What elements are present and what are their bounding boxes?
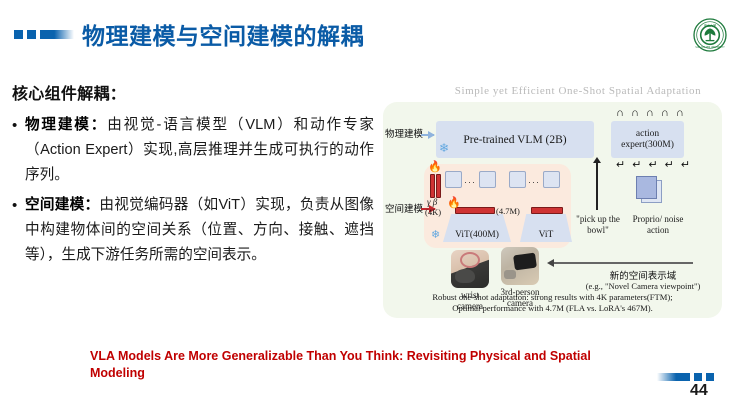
figure-label-physical-modeling: 物理建模 bbox=[385, 126, 423, 140]
glyph-top-5: ∩ bbox=[676, 108, 684, 119]
flame-icon-2: 🔥 bbox=[447, 198, 461, 209]
param-4k-label: (4K) bbox=[425, 207, 441, 217]
page-title: 物理建模与空间建模的解耦 bbox=[82, 17, 364, 51]
paper-title: VLA Models Are More Generalizable Than Y… bbox=[90, 348, 620, 382]
token-square-1 bbox=[445, 171, 462, 188]
vit-400m-box: ViT(400M) bbox=[443, 214, 511, 242]
token-ellipsis-2: ··· bbox=[528, 178, 540, 187]
header-square-1 bbox=[14, 30, 23, 39]
figure-bottom-caption-line1: Robust one-shot adaptation: strong resul… bbox=[393, 292, 712, 303]
wrist-camera-image bbox=[451, 250, 489, 288]
bullet-lead-label: 物理建模： bbox=[25, 117, 107, 133]
third-person-camera-image bbox=[501, 247, 539, 285]
vit-400m-label: ViT(400M) bbox=[455, 230, 499, 242]
figure-title: Simple yet Efficient One-Shot Spatial Ad… bbox=[433, 85, 723, 97]
action-expert-top-glyphs: ∩ ∩ ∩ ∩ ∩ bbox=[616, 108, 684, 119]
bullet-marker: • bbox=[12, 113, 25, 138]
pretrained-vlm-box: Pre-trained VLM (2B) bbox=[436, 121, 594, 158]
pretrained-vlm-label: Pre-trained VLM (2B) bbox=[436, 121, 594, 158]
university-seal-logo: 中山大学 SUN YAT-SEN UNIVERSITY bbox=[692, 17, 728, 53]
list-item: • 物理建模：由视觉-语言模型（VLM）和动作专家（Action Expert）… bbox=[12, 113, 374, 188]
param-47m-label: (4.7M) bbox=[496, 206, 520, 216]
svg-text:SUN YAT-SEN UNIVERSITY: SUN YAT-SEN UNIVERSITY bbox=[695, 46, 725, 49]
footer-gradient-bar bbox=[657, 373, 690, 381]
prompt-caption: "pick up the bowl" bbox=[569, 214, 627, 236]
arrow-to-vlm bbox=[421, 134, 434, 136]
header-square-2 bbox=[27, 30, 36, 39]
snowflake-icon: ❄ bbox=[439, 142, 449, 154]
content-heading: 核心组件解耦： bbox=[12, 80, 374, 104]
vit-box: ViT bbox=[520, 214, 572, 242]
snowflake-icon-2: ❄ bbox=[431, 230, 440, 241]
new-domain-feedback-arrow bbox=[553, 262, 693, 264]
slide-header: 物理建模与空间建模的解耦 中山大学 SUN YAT-SEN UNIVERSITY bbox=[0, 0, 740, 68]
token-ellipsis-1: ··· bbox=[464, 178, 476, 187]
glyph-bottom-5: ↵ bbox=[681, 160, 690, 171]
figure-label-spatial-modeling: 空间建模 bbox=[385, 201, 423, 215]
new-domain-label-en: (e.g., "Novel Camera viewpoint") bbox=[563, 281, 723, 291]
action-expert-box: action expert(300M) bbox=[611, 121, 684, 158]
glyph-top-3: ∩ bbox=[646, 108, 654, 119]
footer-square-1 bbox=[694, 373, 702, 381]
footer-decoration-marks bbox=[657, 373, 714, 381]
figure-canvas: 物理建模 Pre-trained VLM (2B) ❄ ∩ ∩ ∩ ∩ ∩ ac… bbox=[383, 102, 722, 318]
footer-square-2 bbox=[706, 373, 714, 381]
glyph-top-1: ∩ bbox=[616, 108, 624, 119]
action-expert-bottom-glyphs: ↵ ↵ ↵ ↵ ↵ bbox=[616, 160, 690, 171]
prompt-up-arrow bbox=[596, 162, 598, 210]
beta-bar bbox=[436, 174, 441, 198]
glyph-bottom-2: ↵ bbox=[632, 160, 641, 171]
bullet-text: 空间建模：由视觉编码器（如ViT）实现，负责从图像中构建物体间的空间关系（位置、… bbox=[25, 193, 374, 268]
vit-label: ViT bbox=[539, 230, 554, 242]
gamma-beta-label: γ β bbox=[427, 197, 437, 207]
action-expert-line1: action bbox=[636, 129, 659, 140]
vit-400m-adapter-bar bbox=[455, 207, 495, 214]
vit-adapter-bar bbox=[531, 207, 563, 214]
token-square-3 bbox=[509, 171, 526, 188]
figure-bottom-caption: Robust one-shot adaptation: strong resul… bbox=[393, 292, 712, 314]
bullet-lead-label: 空间建模： bbox=[25, 197, 99, 213]
page-number: 44 bbox=[690, 382, 708, 400]
new-domain-label-cn: 新的空间表示域 bbox=[568, 268, 718, 282]
proprio-caption: Proprio/ noise action bbox=[628, 214, 688, 236]
header-gradient-bar bbox=[40, 30, 74, 39]
figure-panel: Simple yet Efficient One-Shot Spatial Ad… bbox=[383, 78, 723, 318]
glyph-bottom-1: ↵ bbox=[616, 160, 625, 171]
bullet-text: 物理建模：由视觉-语言模型（VLM）和动作专家（Action Expert）实现… bbox=[25, 113, 374, 188]
gamma-bar bbox=[430, 174, 435, 198]
list-item: • 空间建模：由视觉编码器（如ViT）实现，负责从图像中构建物体间的空间关系（位… bbox=[12, 193, 374, 268]
svg-text:中山大学: 中山大学 bbox=[704, 22, 716, 27]
token-square-2 bbox=[479, 171, 496, 188]
left-content-block: 核心组件解耦： • 物理建模：由视觉-语言模型（VLM）和动作专家（Action… bbox=[12, 80, 374, 273]
glyph-bottom-3: ↵ bbox=[648, 160, 657, 171]
figure-bottom-caption-line2: Optimal performance with 4.7M (FLA vs. L… bbox=[393, 303, 712, 314]
glyph-top-2: ∩ bbox=[631, 108, 639, 119]
glyph-top-4: ∩ bbox=[661, 108, 669, 119]
bullet-marker: • bbox=[12, 193, 25, 218]
header-decoration-marks bbox=[14, 30, 74, 39]
action-expert-line2: expert(300M) bbox=[621, 140, 674, 151]
proprio-square-front bbox=[636, 176, 657, 199]
token-square-4 bbox=[543, 171, 560, 188]
glyph-bottom-4: ↵ bbox=[665, 160, 674, 171]
flame-icon-1: 🔥 bbox=[428, 162, 442, 173]
